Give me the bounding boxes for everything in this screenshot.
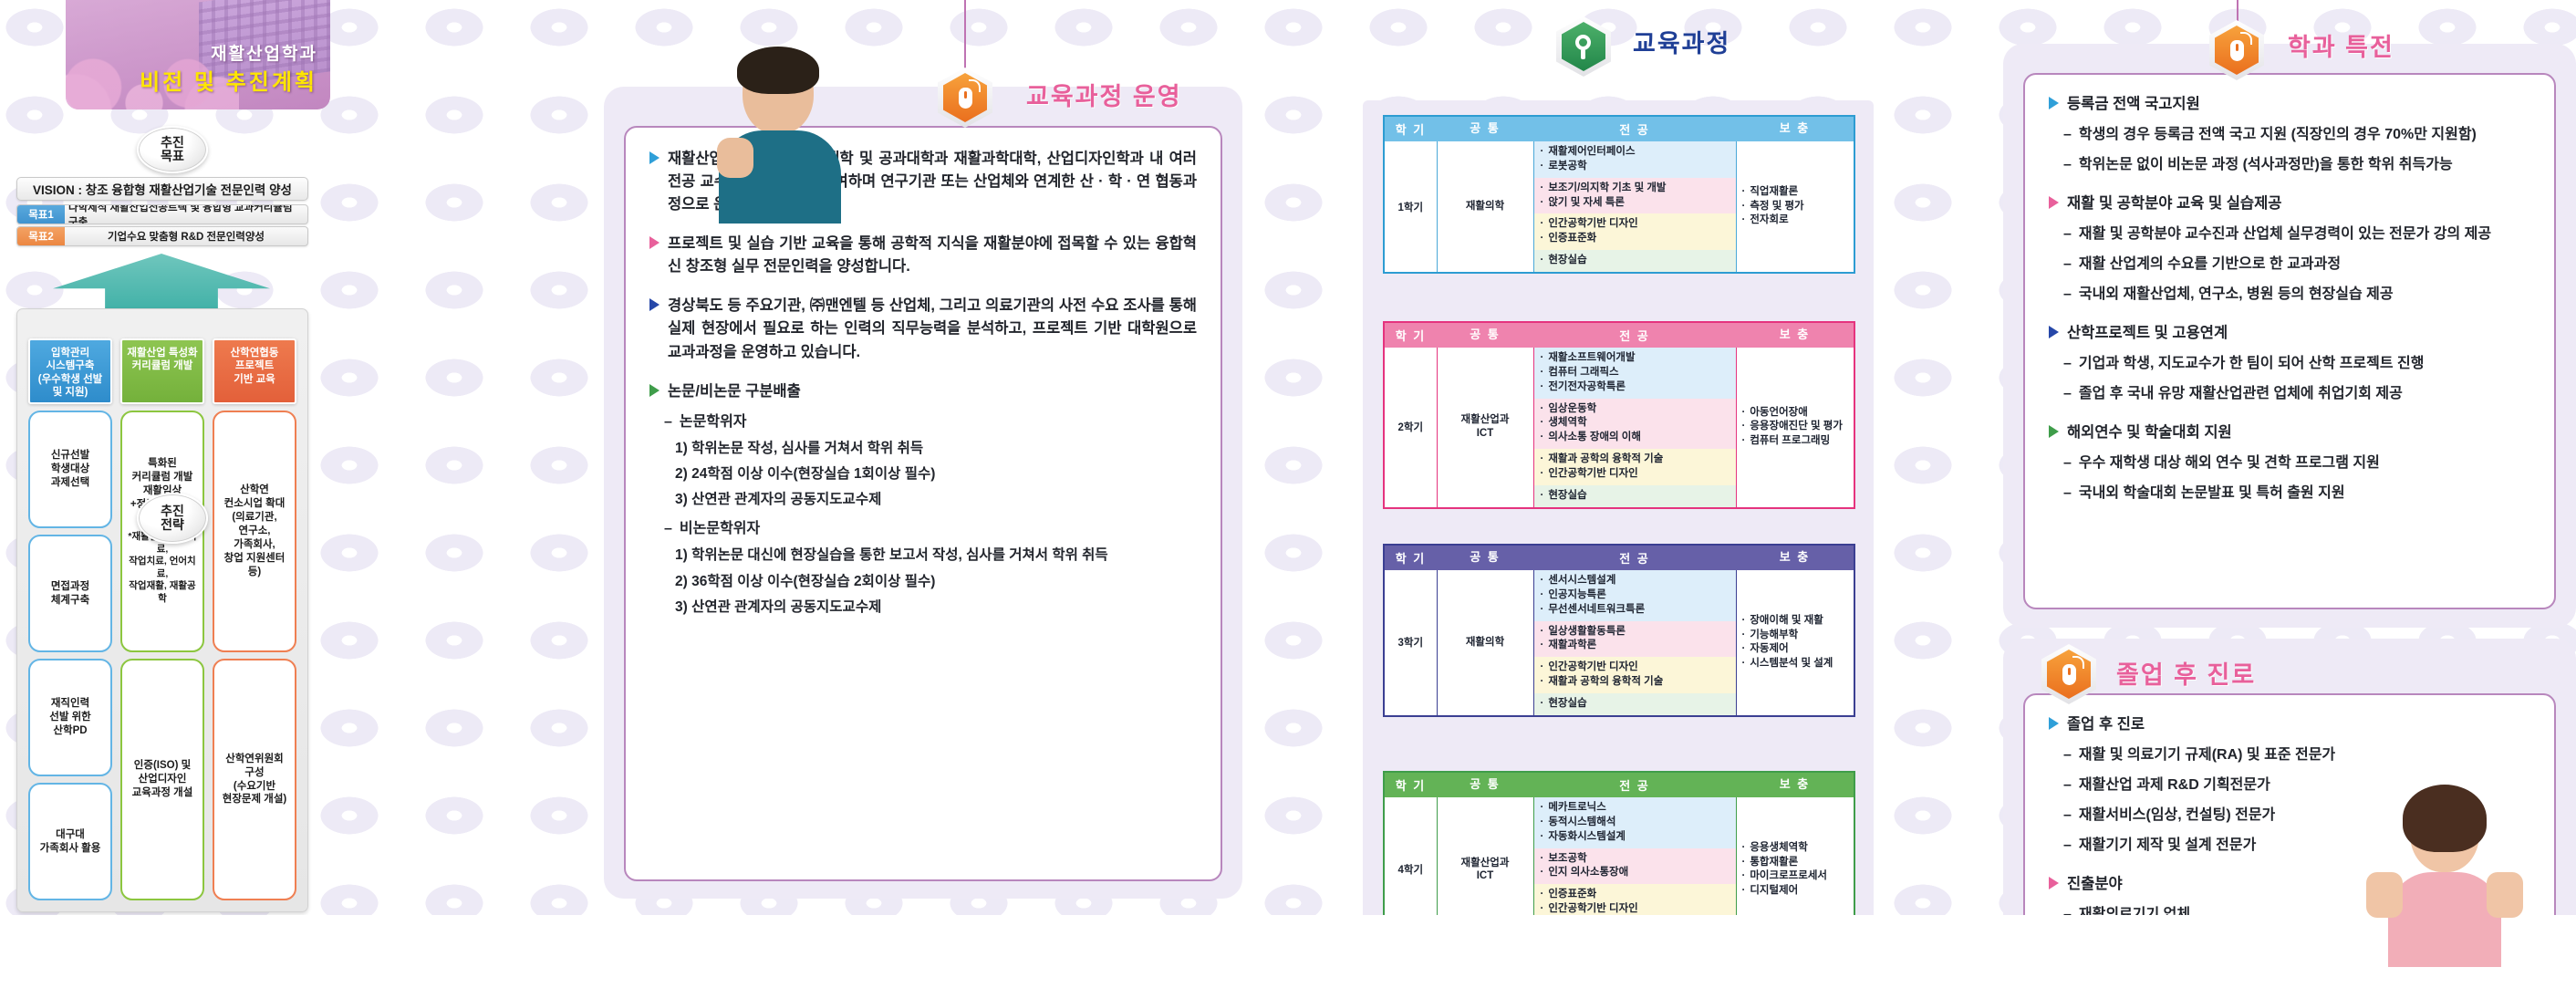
benefits-card: 등록금 전액 국고지원–학생의 경우 등록금 전액 국고 지원 (직장인의 경우… <box>2023 73 2556 609</box>
major-item-label: 현장실습 <box>1548 254 1586 268</box>
mouse-icon <box>959 88 972 109</box>
major-item-label: 컴퓨터 그래픽스 <box>1548 366 1618 380</box>
bottom-color-band <box>66 970 330 988</box>
support-cell: ·장애이해 및 재활·기능해부학·자동제어·시스템분석 및 설계 <box>1736 570 1854 716</box>
major-group: ·인증표준화·인간공학기반 디자인 <box>1534 884 1736 920</box>
strategy-item: 신규선발학생대상과제선택 <box>28 411 112 528</box>
student-female-photo <box>2363 785 2527 967</box>
major-group: ·메카트로닉스·동적시스템해석·자동화시스템설계 <box>1534 797 1736 848</box>
strategy-column: 입학관리시스템구축(우수학생 선발및 지원)신규선발학생대상과제선택면접과정체계… <box>28 338 112 900</box>
bullet-dot-icon: · <box>1541 924 1544 939</box>
major-group: ·재활과 공학의 융학적 기술·인간공학기반 디자인 <box>1534 449 1736 485</box>
section-title-curriculum-operation: 교육과정 운영 <box>1026 77 1182 112</box>
bullet-dot-icon: · <box>1541 217 1544 232</box>
column-header: 학 기 <box>1384 772 1437 797</box>
bullet-dot-icon: · <box>1541 830 1544 845</box>
bullet-triangle-icon <box>649 384 660 397</box>
dash-item: –재활 및 의료기기 규제(RA) 및 표준 전문가 <box>2049 744 2530 766</box>
column-header: 보 충 <box>1736 545 1854 570</box>
dash-marker-icon: – <box>2063 775 2072 796</box>
major-item: ·인간공학기반 디자인 <box>1541 902 1729 917</box>
major-item: ·재활과 공학의 융학적 기술 <box>1541 452 1729 467</box>
bullet-dot-icon: · <box>1541 660 1544 675</box>
strategy-item: 대구대가족회사 활용 <box>28 783 112 900</box>
mouse-hex-icon-benefits <box>2209 20 2264 80</box>
support-item-label: 응용생체역학 <box>1750 841 1807 856</box>
bullet-triangle-icon <box>2049 877 2059 889</box>
strategy-item: 인증(ISO) 및산업디자인교육과정 개설 <box>120 659 204 900</box>
strategy-head: 입학관리시스템구축(우수학생 선발및 지원) <box>28 338 112 404</box>
major-item: ·현장실습 <box>1541 924 1729 939</box>
bullet-dot-icon: · <box>1541 801 1544 816</box>
major-group: ·보조공학·인지 의사소통장애 <box>1534 848 1736 885</box>
table-header-row: 학 기공 통전 공보 충 <box>1384 116 1854 141</box>
bullet-line: 경상북도 등 주요기관, ㈜맨엔텔 등 산업체, 그리고 의료기관의 사전 수요… <box>649 295 1197 363</box>
dash-text: 기업과 학생, 지도교수가 한 팀이 되어 산학 프로젝트 진행 <box>2079 353 2425 375</box>
bullet-dot-icon: · <box>1541 160 1544 174</box>
mouse-hex-icon-operation <box>938 68 992 128</box>
bullet-dot-icon: · <box>1541 574 1544 588</box>
table-header-row: 학 기공 통전 공보 충 <box>1384 545 1854 570</box>
strategy-item: 면접과정체계구축 <box>28 535 112 652</box>
dash-text: 우수 재학생 대상 해외 연수 및 견학 프로그램 지원 <box>2079 452 2380 474</box>
support-item-label: 아동언어장애 <box>1750 406 1807 421</box>
bullet-line: 산학프로젝트 및 고용연계 <box>2049 322 2530 345</box>
support-item: ·응용생체역학 <box>1742 841 1849 856</box>
dash-text: 재활 및 공학분야 교수진과 산업체 실무경력이 있는 전문가 강의 제공 <box>2079 224 2491 245</box>
major-item-label: 인간공학기반 디자인 <box>1548 660 1637 675</box>
bullet-text: 재활 및 공학분야 교육 및 실습제공 <box>2067 192 2281 215</box>
bullet-block: 산학프로젝트 및 고용연계–기업과 학생, 지도교수가 한 팀이 되어 산학 프… <box>2049 322 2530 405</box>
column-header: 공 통 <box>1437 545 1533 570</box>
major-cell: ·재활소프트웨어개발·컴퓨터 그래픽스·전기전자공학특론·임상운동학·생체역학·… <box>1533 348 1736 508</box>
major-item-label: 보조공학 <box>1548 852 1586 867</box>
major-group: ·인간공학기반 디자인·인증표준화 <box>1534 213 1736 250</box>
support-cell: ·아동언어장애·응용장애진단 및 평가·컴퓨터 프로그래밍 <box>1736 348 1854 508</box>
table-row: 2학기재활산업과ICT·재활소프트웨어개발·컴퓨터 그래픽스·전기전자공학특론·… <box>1384 348 1854 508</box>
bullet-dot-icon: · <box>1541 232 1544 246</box>
bullet-block: 해외연수 및 학술대회 지원–우수 재학생 대상 해외 연수 및 견학 프로그램… <box>2049 421 2530 504</box>
dash-item: –비논문학위자 <box>649 518 1197 540</box>
goal-badge-line1: 추진 <box>161 136 184 150</box>
support-item: ·디지털제어 <box>1742 884 1849 899</box>
bullet-dot-icon: · <box>1541 816 1544 830</box>
dash-text: 국내외 학술대회 논문발표 및 특허 출원 지원 <box>2079 483 2345 504</box>
common-cell: 재활산업과ICT <box>1437 797 1533 943</box>
column-header: 전 공 <box>1533 116 1736 141</box>
major-item: ·현장실습 <box>1541 489 1729 504</box>
bullet-line: 재활 및 공학분야 교육 및 실습제공 <box>2049 192 2530 215</box>
bullet-dot-icon: · <box>1541 366 1544 380</box>
table-row: 1학기재활의학·재활제어인터페이스·로봇공학·보조기/의지학 기초 및 개발·앉… <box>1384 141 1854 273</box>
dash-item: –재활 및 공학분야 교수진과 산업체 실무경력이 있는 전문가 강의 제공 <box>2049 224 2530 245</box>
major-item: ·임상운동학 <box>1541 402 1729 417</box>
dash-marker-icon: – <box>664 411 672 433</box>
bullet-dot-icon: · <box>1742 884 1746 899</box>
strategy-box: 입학관리시스템구축(우수학생 선발및 지원)신규선발학생대상과제선택면접과정체계… <box>16 308 308 912</box>
numbered-item: 1) 학위논문 대신에 현장실습을 통한 보고서 작성, 심사를 거쳐서 학위 … <box>649 545 1197 566</box>
numbered-item: 3) 산연관 관계자의 공동지도교수제 <box>649 597 1197 618</box>
support-item-label: 응용장애진단 및 평가 <box>1750 420 1843 434</box>
major-item-label: 재활과 공학의 융학적 기술 <box>1548 675 1663 690</box>
goal-row: 목표2 기업수요 맞춤형 R&D 전문인력양성 <box>16 226 308 246</box>
major-item-label: 로봇공학 <box>1548 160 1586 174</box>
column-header: 전 공 <box>1533 545 1736 570</box>
goal-badge: 추진 목표 <box>137 126 208 173</box>
strategy-column: 산학연협동프로젝트기반 교육산학연컨소시업 확대(의료기관,연구소,가족회사,창… <box>213 338 296 900</box>
strategy-columns: 입학관리시스템구축(우수학생 선발및 지원)신규선발학생대상과제선택면접과정체계… <box>28 338 296 900</box>
major-item: ·자동화시스템설계 <box>1541 830 1729 845</box>
major-group: ·현장실습 <box>1534 693 1736 715</box>
bullet-dot-icon: · <box>1541 351 1544 366</box>
dash-marker-icon: – <box>2063 835 2072 857</box>
dash-text: 재활 및 의료기기 규제(RA) 및 표준 전문가 <box>2079 744 2335 766</box>
support-item-label: 장애이해 및 재활 <box>1750 614 1823 629</box>
support-item: ·장애이해 및 재활 <box>1742 614 1849 629</box>
major-cell: ·재활제어인터페이스·로봇공학·보조기/의지학 기초 및 개발·앉기 및 자세 … <box>1533 141 1736 273</box>
major-item-label: 현장실습 <box>1548 697 1586 712</box>
bullet-dot-icon: · <box>1541 416 1544 431</box>
common-cell: 재활의학 <box>1437 141 1533 273</box>
major-group: ·보조기/의지학 기초 및 개발·앉기 및 자세 특론 <box>1534 178 1736 214</box>
major-item-label: 무선센서네트워크특론 <box>1548 603 1645 618</box>
major-item: ·인간공학기반 디자인 <box>1541 467 1729 482</box>
semester-table: 학 기공 통전 공보 충4학기재활산업과ICT·메카트로닉스·동적시스템해석·자… <box>1383 771 1855 944</box>
major-item-label: 현장실습 <box>1548 924 1586 939</box>
section-title-curriculum: 교육과정 <box>1633 24 1730 59</box>
major-item: ·로봇공학 <box>1541 160 1729 174</box>
bullet-dot-icon: · <box>1541 588 1544 603</box>
column-header: 공 통 <box>1437 322 1533 348</box>
major-item: ·인증표준화 <box>1541 232 1729 246</box>
table-header-row: 학 기공 통전 공보 충 <box>1384 772 1854 797</box>
dash-marker-icon: – <box>664 518 672 540</box>
major-item: ·인지 의사소통장애 <box>1541 866 1729 880</box>
semester-cell: 3학기 <box>1384 570 1437 716</box>
dash-text: 재활 산업계의 수요를 기반으로 한 교과과정 <box>2079 254 2341 276</box>
bullet-text: 경상북도 등 주요기관, ㈜맨엔텔 등 산업체, 그리고 의료기관의 사전 수요… <box>668 295 1197 363</box>
dash-text: 재활의료기기 업체 <box>2079 904 2190 926</box>
table-row: 4학기재활산업과ICT·메카트로닉스·동적시스템해석·자동화시스템설계·보조공학… <box>1384 797 1854 943</box>
major-item: ·생체역학 <box>1541 416 1729 431</box>
major-item-label: 인간공학기반 디자인 <box>1548 467 1637 482</box>
bullet-dot-icon: · <box>1742 406 1746 421</box>
major-item-label: 인증표준화 <box>1548 232 1596 246</box>
major-cell: ·메카트로닉스·동적시스템해석·자동화시스템설계·보조공학·인지 의사소통장애·… <box>1533 797 1736 943</box>
bullet-line: 해외연수 및 학술대회 지원 <box>2049 421 2530 444</box>
vision-column: 재활산업학과 비전 및 추진계획 추진 목표 VISION : 창조 융합형 재… <box>0 0 639 988</box>
dash-text: 논문학위자 <box>680 411 747 433</box>
major-item-label: 재활과학론 <box>1548 639 1596 653</box>
bullet-dot-icon: · <box>1742 614 1746 629</box>
dash-marker-icon: – <box>2063 904 2072 926</box>
dash-item: –국내외 재활산업체, 연구소, 병원 등의 현장실습 제공 <box>2049 284 2530 306</box>
bullet-dot-icon: · <box>1541 467 1544 482</box>
vision-statement: VISION : 창조 융합형 재활산업기술 전문인력 양성 <box>16 177 308 201</box>
bullet-dot-icon: · <box>1541 402 1544 417</box>
dash-marker-icon: – <box>2063 254 2072 276</box>
support-item: ·자동제어 <box>1742 642 1849 657</box>
support-item: ·아동언어장애 <box>1742 406 1849 421</box>
bullet-triangle-icon <box>2049 196 2059 209</box>
dash-marker-icon: – <box>2063 744 2072 766</box>
bullet-dot-icon: · <box>1742 629 1746 643</box>
column-header: 보 충 <box>1736 116 1854 141</box>
dash-marker-icon: – <box>2063 452 2072 474</box>
bullet-dot-icon: · <box>1541 145 1544 160</box>
goal-tag: 목표1 <box>17 205 65 224</box>
goal-text: 기업수요 맞춤형 R&D 전문인력양성 <box>65 227 307 245</box>
bullet-dot-icon: · <box>1541 852 1544 867</box>
bullet-line: 프로젝트 및 실습 기반 교육을 통해 공학적 지식을 재활분야에 접목할 수 … <box>649 233 1197 278</box>
bullet-line: 등록금 전액 국고지원 <box>2049 93 2530 116</box>
table-header-row: 학 기공 통전 공보 충 <box>1384 322 1854 348</box>
major-group: ·인간공학기반 디자인·재활과 공학의 융학적 기술 <box>1534 657 1736 693</box>
bullet-dot-icon: · <box>1742 185 1746 200</box>
dash-marker-icon: – <box>2063 934 2072 956</box>
bullet-dot-icon: · <box>1742 434 1746 449</box>
major-item-label: 현장실습 <box>1548 489 1586 504</box>
dash-text: 연구소 및 의료기관 <box>2079 934 2195 956</box>
major-item: ·일상생활활동특론 <box>1541 625 1729 640</box>
dash-item: –학위논문 없이 비논문 과정 (석사과정만)을 통한 학위 취득가능 <box>2049 154 2530 176</box>
dash-marker-icon: – <box>2063 964 2072 986</box>
bullet-block: 논문/비논문 구분배출–논문학위자1) 학위논문 작성, 심사를 거쳐서 학위 … <box>649 380 1197 619</box>
column-header: 학 기 <box>1384 322 1437 348</box>
bullet-line: 졸업 후 진로 <box>2049 713 2530 736</box>
semester-table: 학 기공 통전 공보 충2학기재활산업과ICT·재활소프트웨어개발·컴퓨터 그래… <box>1383 321 1855 509</box>
major-group: ·센서시스템설계·인공지능특론·무선센서네트워크특론 <box>1534 570 1736 621</box>
major-group: ·재활제어인터페이스·로봇공학 <box>1534 141 1736 178</box>
dash-text: 국내외 재활산업체, 연구소, 병원 등의 현장실습 제공 <box>2079 284 2394 306</box>
goal-badge-line2: 목표 <box>161 150 184 163</box>
common-cell: 재활의학 <box>1437 570 1533 716</box>
major-item-label: 인지 의사소통장애 <box>1548 866 1628 880</box>
bullet-dot-icon: · <box>1742 841 1746 856</box>
hero-banner: 재활산업학과 비전 및 추진계획 <box>66 0 330 109</box>
bullet-block: 등록금 전액 국고지원–학생의 경우 등록금 전액 국고 지원 (직장인의 경우… <box>2049 93 2530 176</box>
major-cell: ·센서시스템설계·인공지능특론·무선센서네트워크특론·일상생활활동특론·재활과학… <box>1533 570 1736 716</box>
major-item-label: 인간공학기반 디자인 <box>1548 902 1637 917</box>
bullet-triangle-icon <box>649 298 660 311</box>
column-header: 전 공 <box>1533 322 1736 348</box>
mouse-hex-icon-careers <box>2041 644 2096 704</box>
dash-text: 재활서비스(임상, 컨설팅) 전문가 <box>2079 805 2275 827</box>
column-header: 전 공 <box>1533 772 1736 797</box>
column-header: 공 통 <box>1437 772 1533 797</box>
column-header: 학 기 <box>1384 116 1437 141</box>
dash-text: 비논문학위자 <box>680 518 760 540</box>
major-item: ·인증표준화 <box>1541 888 1729 902</box>
dash-marker-icon: – <box>2063 224 2072 245</box>
column-header: 학 기 <box>1384 545 1437 570</box>
dash-marker-icon: – <box>2063 805 2072 827</box>
bullet-dot-icon: · <box>1742 420 1746 434</box>
bullet-text: 졸업 후 진로 <box>2067 713 2145 736</box>
bullet-dot-icon: · <box>1541 639 1544 653</box>
bullet-text: 진출분야 <box>2067 873 2123 896</box>
bullet-text: 산학프로젝트 및 고용연계 <box>2067 322 2228 345</box>
bullet-dot-icon: · <box>1541 431 1544 445</box>
bullet-text: 해외연수 및 학술대회 지원 <box>2067 421 2232 444</box>
dash-marker-icon: – <box>2063 284 2072 306</box>
support-item-label: 자동제어 <box>1750 642 1788 657</box>
major-item: ·현장실습 <box>1541 254 1729 268</box>
support-item-label: 기능해부학 <box>1750 629 1798 643</box>
strategy-badge-line2: 전략 <box>161 518 184 532</box>
column-header: 공 통 <box>1437 116 1533 141</box>
major-item-label: 의사소통 장애의 이해 <box>1548 431 1641 445</box>
major-item-label: 동적시스템해석 <box>1548 816 1615 830</box>
major-item: ·무선센서네트워크특론 <box>1541 603 1729 618</box>
strategy-head: 산학연협동프로젝트기반 교육 <box>213 338 296 404</box>
dash-marker-icon: – <box>2063 383 2072 405</box>
major-item-label: 앉기 및 자세 특론 <box>1548 196 1625 211</box>
major-item: ·재활과 공학의 융학적 기술 <box>1541 675 1729 690</box>
support-item-label: 통합재활론 <box>1750 856 1798 870</box>
numbered-item: 1) 학위논문 작성, 심사를 거쳐서 학위 취득 <box>649 438 1197 459</box>
strategy-item: 재직인력선발 위한산학PD <box>28 659 112 776</box>
support-item-label: 시스템분석 및 설계 <box>1750 657 1833 671</box>
major-item: ·컴퓨터 그래픽스 <box>1541 366 1729 380</box>
major-item: ·센서시스템설계 <box>1541 574 1729 588</box>
major-item: ·메카트로닉스 <box>1541 801 1729 816</box>
semester-cell: 1학기 <box>1384 141 1437 273</box>
bullet-dot-icon: · <box>1742 200 1746 214</box>
dash-marker-icon: – <box>2063 353 2072 375</box>
support-item-label: 측정 및 평가 <box>1750 200 1803 214</box>
major-item-label: 보조기/의지학 기초 및 개발 <box>1548 182 1666 196</box>
bullet-dot-icon: · <box>1541 254 1544 268</box>
student-male-photo <box>712 50 848 224</box>
support-cell: ·직업재활론·측정 및 평가·전자회로 <box>1736 141 1854 273</box>
hero-title-line2: 비전 및 추진계획 <box>66 64 317 96</box>
bullet-dot-icon: · <box>1541 603 1544 618</box>
bullet-block: 경상북도 등 주요기관, ㈜맨엔텔 등 산업체, 그리고 의료기관의 사전 수요… <box>649 295 1197 363</box>
numbered-item: 3) 산연관 관계자의 공동지도교수제 <box>649 489 1197 510</box>
major-item-label: 센서시스템설계 <box>1548 574 1615 588</box>
major-item-label: 인공지능특론 <box>1548 588 1605 603</box>
up-arrow-icon <box>53 254 270 314</box>
magnifier-hex-icon <box>1556 16 1611 77</box>
major-item: ·인간공학기반 디자인 <box>1541 217 1729 232</box>
major-item: ·재활제어인터페이스 <box>1541 145 1729 160</box>
common-cell: 재활산업과ICT <box>1437 348 1533 508</box>
semester-cell: 2학기 <box>1384 348 1437 508</box>
dash-text: 졸업 후 국내 유망 재활산업관련 업체에 취업기회 제공 <box>2079 383 2403 405</box>
bullet-dot-icon: · <box>1742 657 1746 671</box>
strategy-item: 산학연위원회구성(수요기반현장문제 개설) <box>213 659 296 900</box>
bullet-text: 등록금 전액 국고지원 <box>2067 93 2200 116</box>
benefits-bullet-list: 등록금 전액 국고지원–학생의 경우 등록금 전액 국고 지원 (직장인의 경우… <box>2049 93 2530 504</box>
bullet-block: 프로젝트 및 실습 기반 교육을 통해 공학적 지식을 재활분야에 접목할 수 … <box>649 233 1197 278</box>
support-item: ·측정 및 평가 <box>1742 200 1849 214</box>
support-item: ·마이크로프로세서 <box>1742 869 1849 884</box>
major-item: ·동적시스템해석 <box>1541 816 1729 830</box>
support-item: ·기능해부학 <box>1742 629 1849 643</box>
bullet-triangle-icon <box>2049 717 2059 730</box>
bullet-dot-icon: · <box>1541 452 1544 467</box>
support-item-label: 마이크로프로세서 <box>1750 869 1827 884</box>
dash-marker-icon: – <box>2063 124 2072 146</box>
bullet-triangle-icon <box>2049 326 2059 338</box>
major-item-label: 임상운동학 <box>1548 402 1596 417</box>
bullet-dot-icon: · <box>1541 196 1544 211</box>
major-item-label: 일상생활활동특론 <box>1548 625 1626 640</box>
numbered-item: 2) 36학점 이상 이수(현장실습 2회이상 필수) <box>649 571 1197 592</box>
bullet-dot-icon: · <box>1541 902 1544 917</box>
dash-item: –논문학위자 <box>649 411 1197 433</box>
bullet-dot-icon: · <box>1541 866 1544 880</box>
bullet-dot-icon: · <box>1541 888 1544 902</box>
bullet-dot-icon: · <box>1541 380 1544 395</box>
dash-item: –우수 재학생 대상 해외 연수 및 견학 프로그램 지원 <box>2049 452 2530 474</box>
dash-item: –기업과 학생, 지도교수가 한 팀이 되어 산학 프로젝트 진행 <box>2049 353 2530 375</box>
major-group: ·일상생활활동특론·재활과학론 <box>1534 621 1736 658</box>
major-item: ·앉기 및 자세 특론 <box>1541 196 1729 211</box>
support-item-label: 전자회로 <box>1750 213 1788 228</box>
bullet-dot-icon: · <box>1541 697 1544 712</box>
goal-text: 다학제적 재활산업전공트랙 및 융합형 교과커리큘럼 구축 <box>65 205 307 224</box>
support-item-label: 디지털제어 <box>1750 884 1798 899</box>
section-title-careers: 졸업 후 진로 <box>2116 655 2256 691</box>
support-item: ·시스템분석 및 설계 <box>1742 657 1849 671</box>
major-item-label: 재활소프트웨어개발 <box>1548 351 1635 366</box>
major-group: ·임상운동학·생체역학·의사소통 장애의 이해 <box>1534 399 1736 450</box>
major-item: ·재활과학론 <box>1541 639 1729 653</box>
major-group: ·재활소프트웨어개발·컴퓨터 그래픽스·전기전자공학특론 <box>1534 348 1736 399</box>
semester-table: 학 기공 통전 공보 충3학기재활의학·센서시스템설계·인공지능특론·무선센서네… <box>1383 544 1855 717</box>
magnifier-icon <box>1572 35 1595 58</box>
support-item-label: 컴퓨터 프로그래밍 <box>1750 434 1830 449</box>
dash-text: 학위논문 없이 비논문 과정 (석사과정만)을 통한 학위 취득가능 <box>2079 154 2453 176</box>
support-item: ·응용장애진단 및 평가 <box>1742 420 1849 434</box>
bullet-line: 논문/비논문 구분배출 <box>649 380 1197 403</box>
major-item: ·현장실습 <box>1541 697 1729 712</box>
column-header: 보 충 <box>1736 772 1854 797</box>
major-group: ·현장실습 <box>1534 485 1736 507</box>
support-item: ·컴퓨터 프로그래밍 <box>1742 434 1849 449</box>
support-item: ·전자회로 <box>1742 213 1849 228</box>
bullet-dot-icon: · <box>1541 182 1544 196</box>
table-row: 3학기재활의학·센서시스템설계·인공지능특론·무선센서네트워크특론·일상생활활동… <box>1384 570 1854 716</box>
mouse-icon <box>2062 664 2076 685</box>
major-item-label: 전기전자공학특론 <box>1548 380 1626 395</box>
dash-item: –학생의 경우 등록금 전액 국고 지원 (직장인의 경우 70%만 지원함) <box>2049 124 2530 146</box>
strategy-head: 재활산업 특성화커리큘럼 개발 <box>120 338 204 404</box>
strategy-badge: 추진 전략 <box>137 493 208 544</box>
strategy-column: 재활산업 특성화커리큘럼 개발특화된커리큘럼 개발재활임상+정보통신기술+공학기… <box>120 338 204 900</box>
bullet-block: 재활 및 공학분야 교육 및 실습제공–재활 및 공학분야 교수진과 산업체 실… <box>2049 192 2530 306</box>
dash-item: –재활 산업계의 수요를 기반으로 한 교과과정 <box>2049 254 2530 276</box>
major-item-label: 자동화시스템설계 <box>1548 830 1626 845</box>
bullet-dot-icon: · <box>1742 856 1746 870</box>
bullet-dot-icon: · <box>1742 642 1746 657</box>
semester-table: 학 기공 통전 공보 충1학기재활의학·재활제어인터페이스·로봇공학·보조기/의… <box>1383 115 1855 274</box>
bullet-dot-icon: · <box>1742 213 1746 228</box>
dash-marker-icon: – <box>2063 154 2072 176</box>
bullet-dot-icon: · <box>1742 869 1746 884</box>
major-item: ·인간공학기반 디자인 <box>1541 660 1729 675</box>
major-item-label: 재활과 공학의 융학적 기술 <box>1548 452 1663 467</box>
dash-marker-icon: – <box>2063 483 2072 504</box>
bullet-dot-icon: · <box>1541 625 1544 640</box>
goal-tag: 목표2 <box>17 227 65 245</box>
bullet-triangle-icon <box>649 151 660 164</box>
major-item: ·보조공학 <box>1541 852 1729 867</box>
major-item: ·전기전자공학특론 <box>1541 380 1729 395</box>
bullet-text: 프로젝트 및 실습 기반 교육을 통해 공학적 지식을 재활분야에 접목할 수 … <box>668 233 1197 278</box>
